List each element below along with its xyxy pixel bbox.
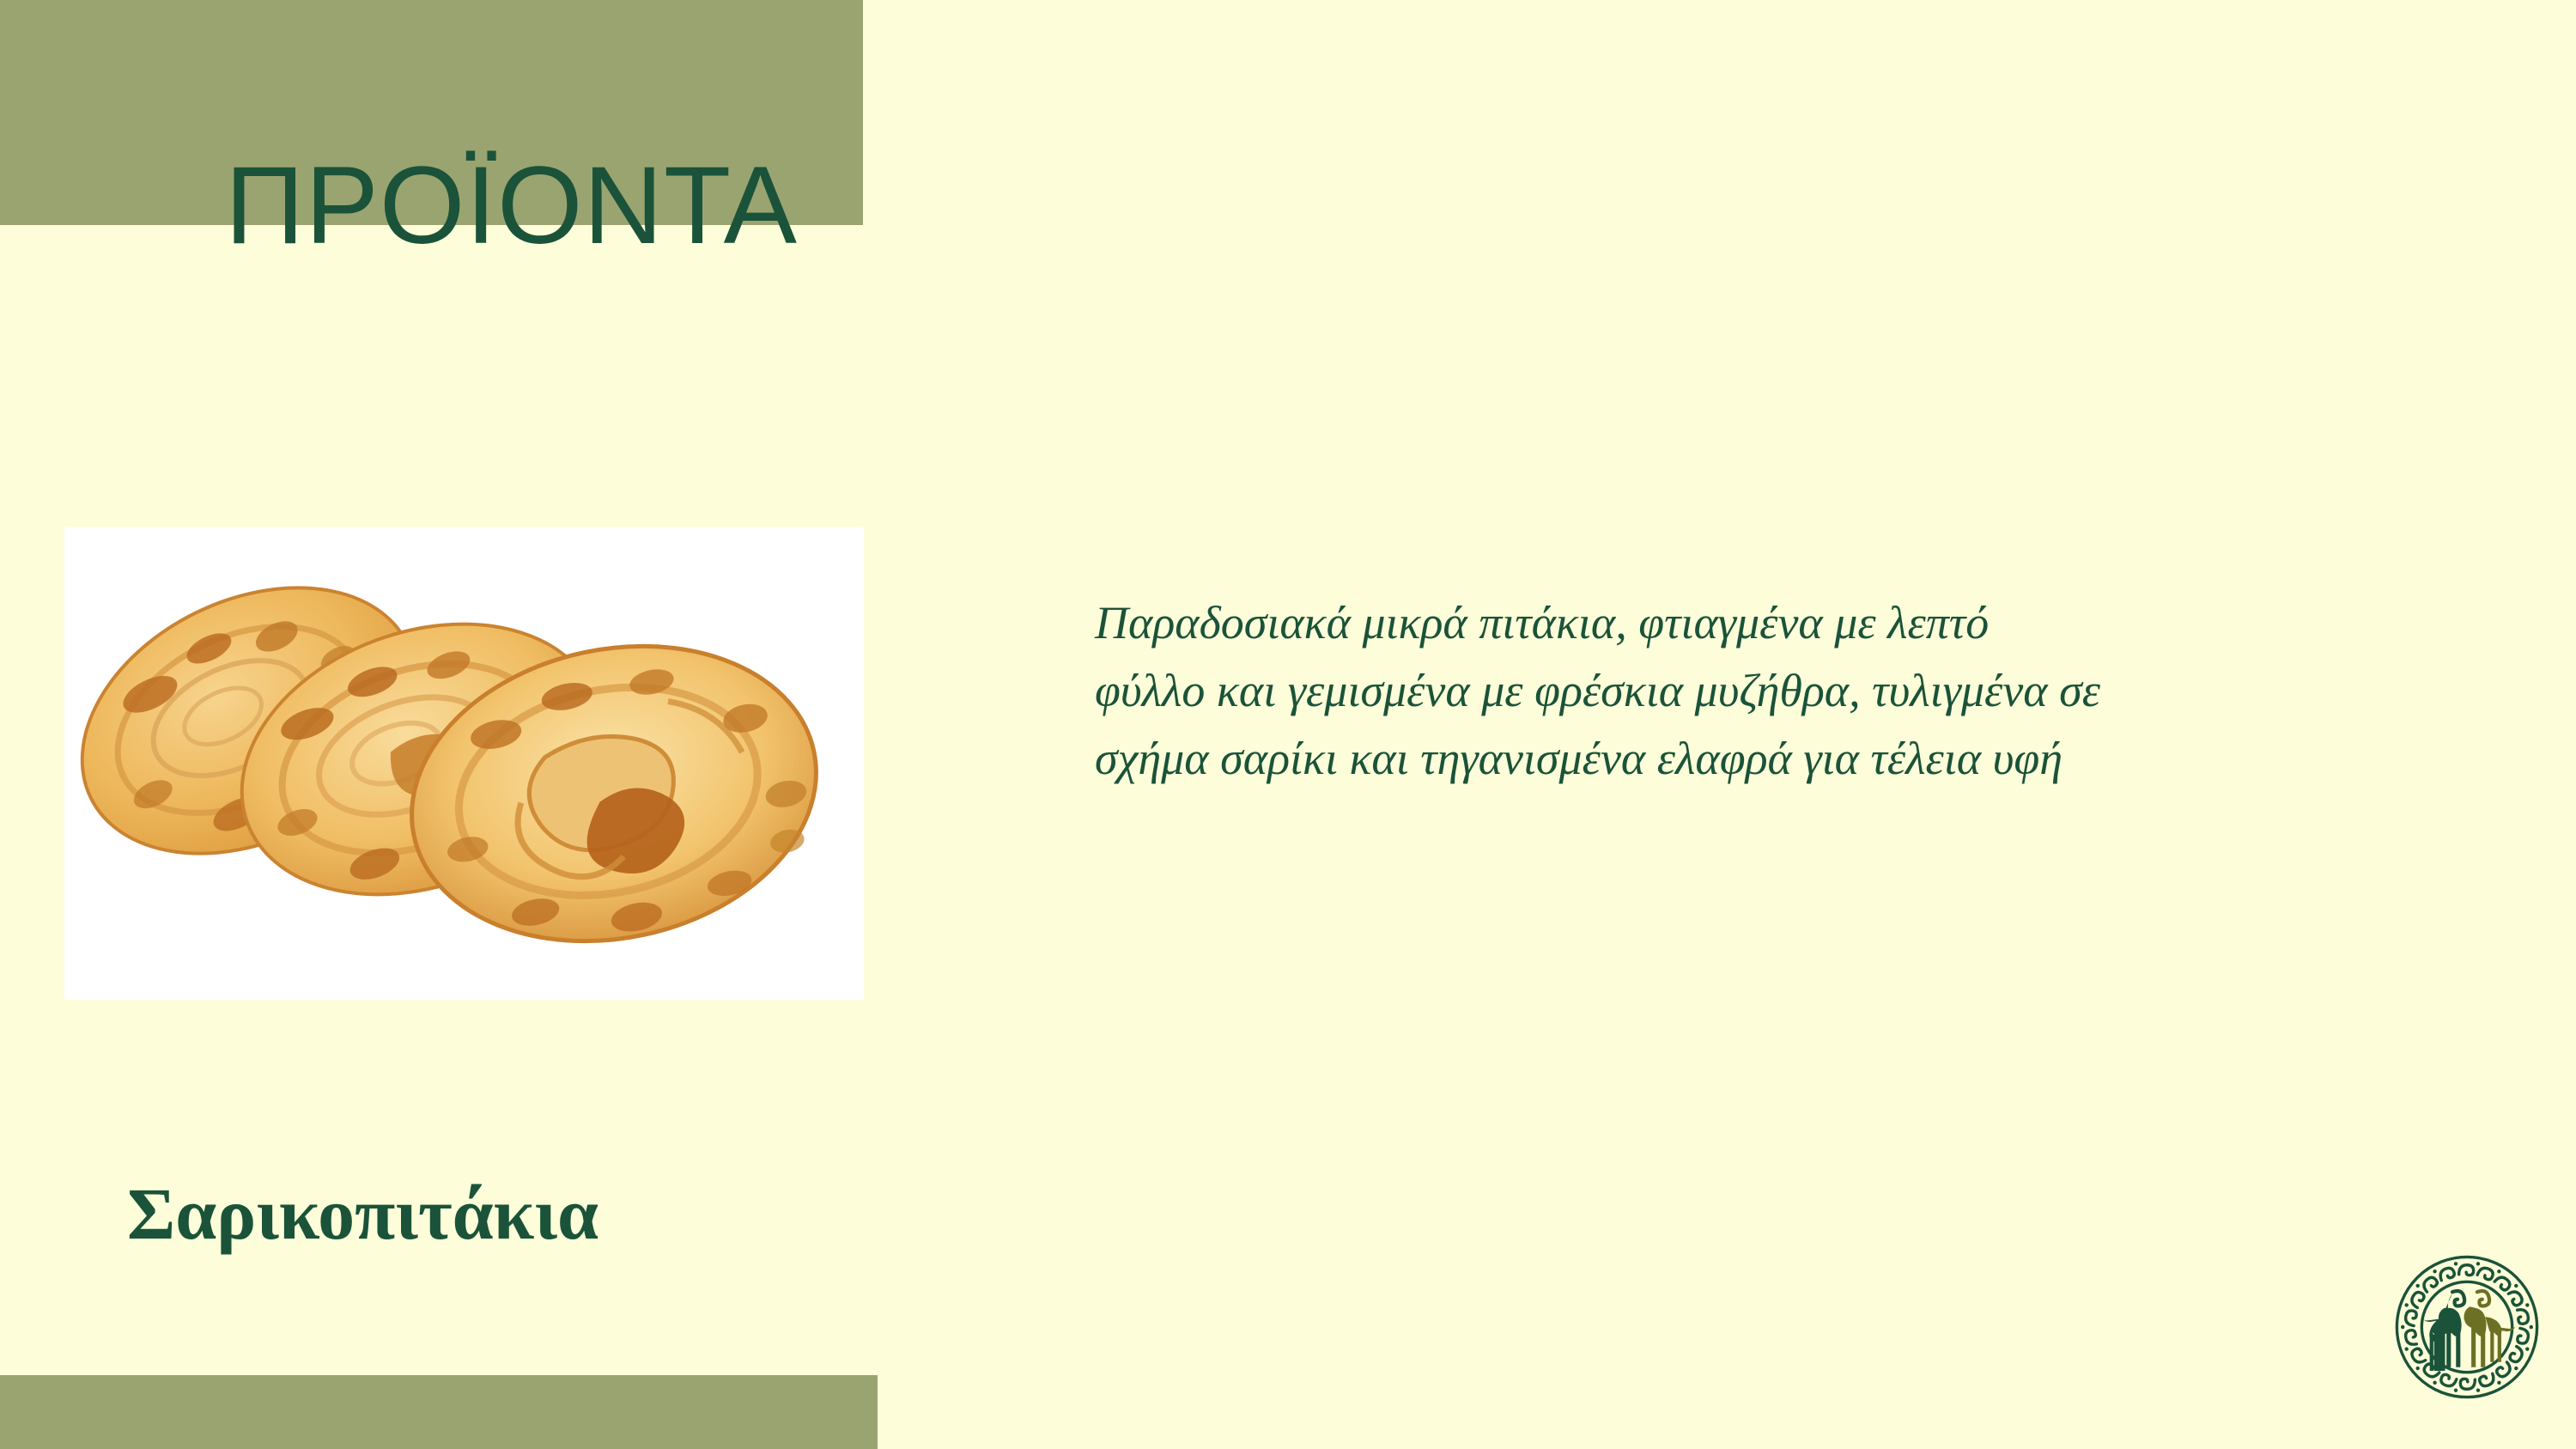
product-name-label: Σαρικοπιτάκια <box>127 1175 598 1252</box>
product-photo-illustration <box>64 527 864 1000</box>
decorative-band-bottom <box>0 1375 878 1449</box>
brand-logo <box>2394 1254 2540 1400</box>
page-title: ΠΡΟΪΟΝΤΑ <box>225 144 798 267</box>
deer-right-icon <box>2464 1291 2516 1367</box>
slide-root: ΠΡΟΪΟΝΤΑ <box>0 0 2576 1449</box>
greek-meander-deer-logo-icon <box>2394 1254 2540 1400</box>
product-description: Παραδοσιακά μικρά πιτάκια, φτιαγμένα με … <box>1095 589 2108 792</box>
product-photo <box>64 527 864 1000</box>
